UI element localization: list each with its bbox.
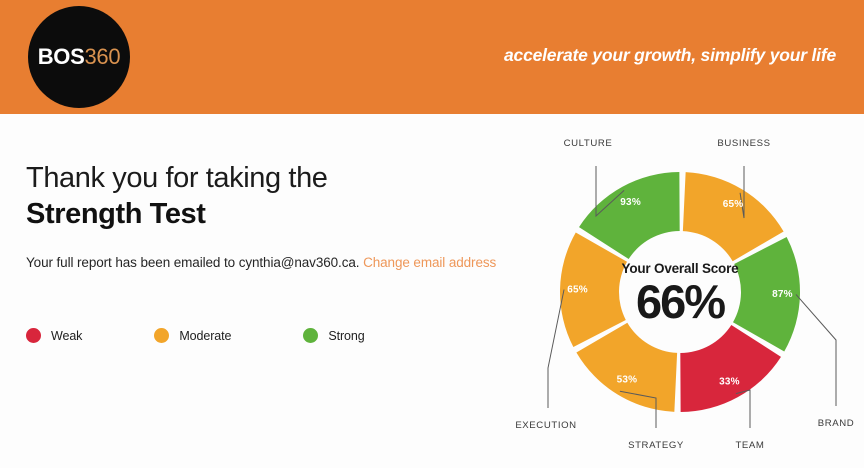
donut-chart-svg: BUSINESSBRANDTEAMSTRATEGYEXECUTIONCULTUR… xyxy=(496,118,864,468)
score-legend: Weak Moderate Strong xyxy=(26,328,437,343)
legend-label-weak: Weak xyxy=(51,329,82,343)
legend-item-moderate: Moderate xyxy=(154,328,231,343)
donut-category-label-culture: CULTURE xyxy=(564,138,613,149)
center-caption: Your Overall Score xyxy=(622,261,740,276)
email-confirmation-text: Your full report has been emailed to cyn… xyxy=(26,255,359,270)
page-title-line1: Thank you for taking the xyxy=(26,160,526,196)
strength-donut-chart: BUSINESSBRANDTEAMSTRATEGYEXECUTIONCULTUR… xyxy=(496,118,864,468)
logo-secondary-text: 360 xyxy=(84,44,120,69)
donut-value-execution: 65% xyxy=(567,284,588,295)
strength-test-results-page: BOS360 accelerate your growth, simplify … xyxy=(0,0,864,468)
donut-category-label-execution: EXECUTION xyxy=(515,420,576,431)
center-score-value: 66% xyxy=(636,275,725,328)
legend-label-strong: Strong xyxy=(328,329,364,343)
donut-value-brand: 87% xyxy=(772,289,793,300)
donut-category-label-business: BUSINESS xyxy=(717,138,770,149)
legend-item-weak: Weak xyxy=(26,328,82,343)
donut-value-culture: 93% xyxy=(620,197,641,208)
bos360-logo[interactable]: BOS360 xyxy=(28,6,130,108)
change-email-address-link[interactable]: Change email address xyxy=(363,255,496,270)
legend-item-strong: Strong xyxy=(303,328,364,343)
donut-value-strategy: 53% xyxy=(617,374,638,385)
donut-value-team: 33% xyxy=(719,376,740,387)
legend-dot-moderate xyxy=(154,328,169,343)
results-text-block: Thank you for taking the Strength Test Y… xyxy=(26,160,526,270)
legend-label-moderate: Moderate xyxy=(179,329,231,343)
logo-primary-text: BOS xyxy=(38,44,85,69)
donut-category-label-team: TEAM xyxy=(735,440,764,451)
header-tagline: accelerate your growth, simplify your li… xyxy=(504,45,836,66)
legend-dot-weak xyxy=(26,328,41,343)
logo-wordmark: BOS360 xyxy=(38,46,121,68)
page-header: BOS360 accelerate your growth, simplify … xyxy=(0,0,864,114)
page-title-line2: Strength Test xyxy=(26,196,526,232)
donut-value-business: 65% xyxy=(723,199,744,210)
donut-category-label-strategy: STRATEGY xyxy=(628,440,684,451)
legend-dot-strong xyxy=(303,328,318,343)
donut-leader-line-brand xyxy=(796,294,836,406)
email-confirmation: Your full report has been emailed to cyn… xyxy=(26,255,526,270)
donut-category-label-brand: BRAND xyxy=(818,418,855,429)
